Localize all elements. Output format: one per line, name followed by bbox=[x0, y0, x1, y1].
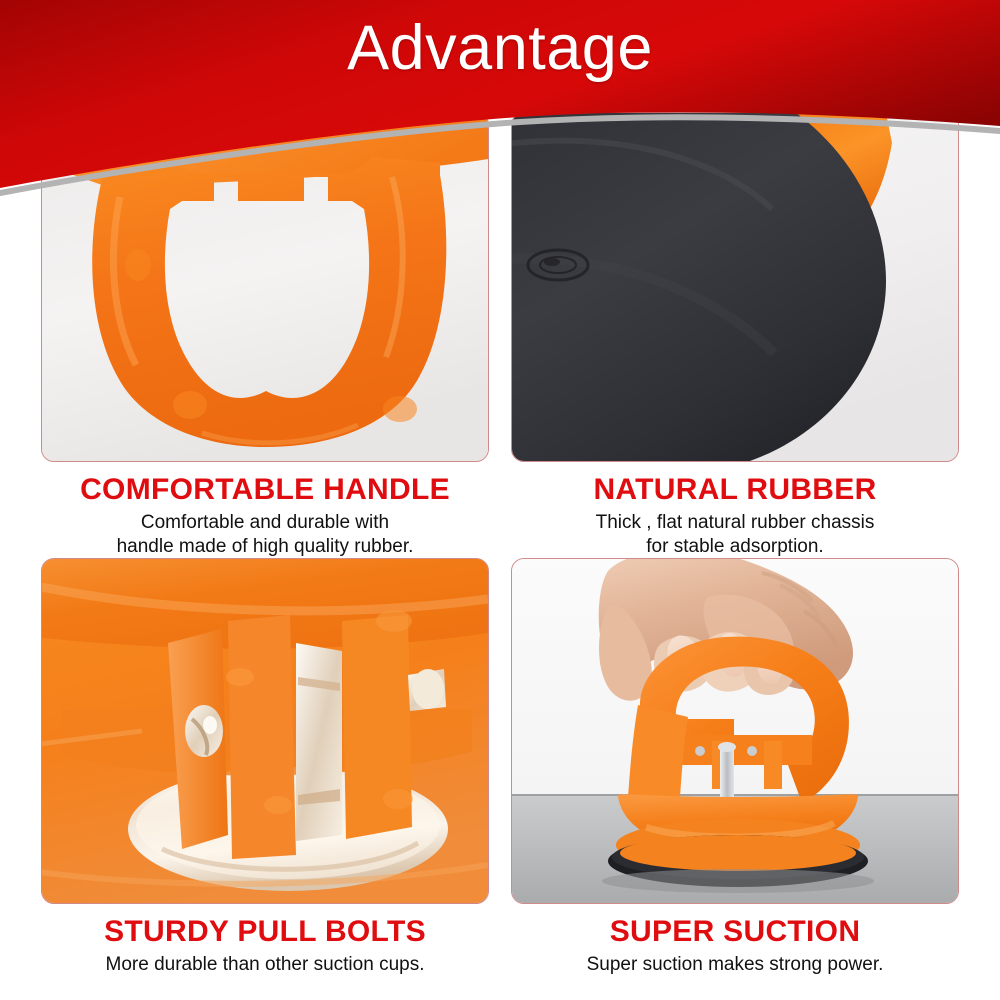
feature-description-line2: for stable adsorption. bbox=[500, 535, 970, 559]
feature-card-comfortable-handle: COMFORTABLE HANDLE Comfortable and durab… bbox=[30, 112, 500, 559]
feature-title: NATURAL RUBBER bbox=[500, 473, 970, 507]
feature-title: SUPER SUCTION bbox=[500, 915, 970, 949]
feature-image-sturdy-pull-bolts bbox=[41, 558, 489, 904]
feature-image-natural-rubber bbox=[511, 112, 959, 462]
feature-description: Thick , flat natural rubber chassis for … bbox=[500, 507, 970, 559]
feature-image-comfortable-handle bbox=[41, 112, 489, 462]
feature-description: Super suction makes strong power. bbox=[500, 949, 970, 977]
feature-description-line1: Thick , flat natural rubber chassis bbox=[500, 511, 970, 535]
feature-image-super-suction bbox=[511, 558, 959, 904]
feature-caption-super-suction: SUPER SUCTION Super suction makes strong… bbox=[500, 904, 970, 977]
feature-description-line1: Super suction makes strong power. bbox=[500, 953, 970, 977]
feature-card-sturdy-pull-bolts: STURDY PULL BOLTS More durable than othe… bbox=[30, 558, 500, 977]
feature-caption-comfortable-handle: COMFORTABLE HANDLE Comfortable and durab… bbox=[30, 462, 500, 559]
feature-grid: COMFORTABLE HANDLE Comfortable and durab… bbox=[0, 0, 1000, 1000]
feature-card-natural-rubber: NATURAL RUBBER Thick , flat natural rubb… bbox=[500, 112, 970, 559]
feature-caption-natural-rubber: NATURAL RUBBER Thick , flat natural rubb… bbox=[500, 462, 970, 559]
feature-description: Comfortable and durable with handle made… bbox=[30, 507, 500, 559]
feature-caption-sturdy-pull-bolts: STURDY PULL BOLTS More durable than othe… bbox=[30, 904, 500, 977]
feature-description-line2: handle made of high quality rubber. bbox=[30, 535, 500, 559]
feature-title: STURDY PULL BOLTS bbox=[30, 915, 500, 949]
feature-description-line1: Comfortable and durable with bbox=[30, 511, 500, 535]
feature-card-super-suction: SUPER SUCTION Super suction makes strong… bbox=[500, 558, 970, 977]
feature-description: More durable than other suction cups. bbox=[30, 949, 500, 977]
advantage-infographic: COMFORTABLE HANDLE Comfortable and durab… bbox=[0, 0, 1000, 1000]
feature-description-line1: More durable than other suction cups. bbox=[30, 953, 500, 977]
feature-title: COMFORTABLE HANDLE bbox=[30, 473, 500, 507]
